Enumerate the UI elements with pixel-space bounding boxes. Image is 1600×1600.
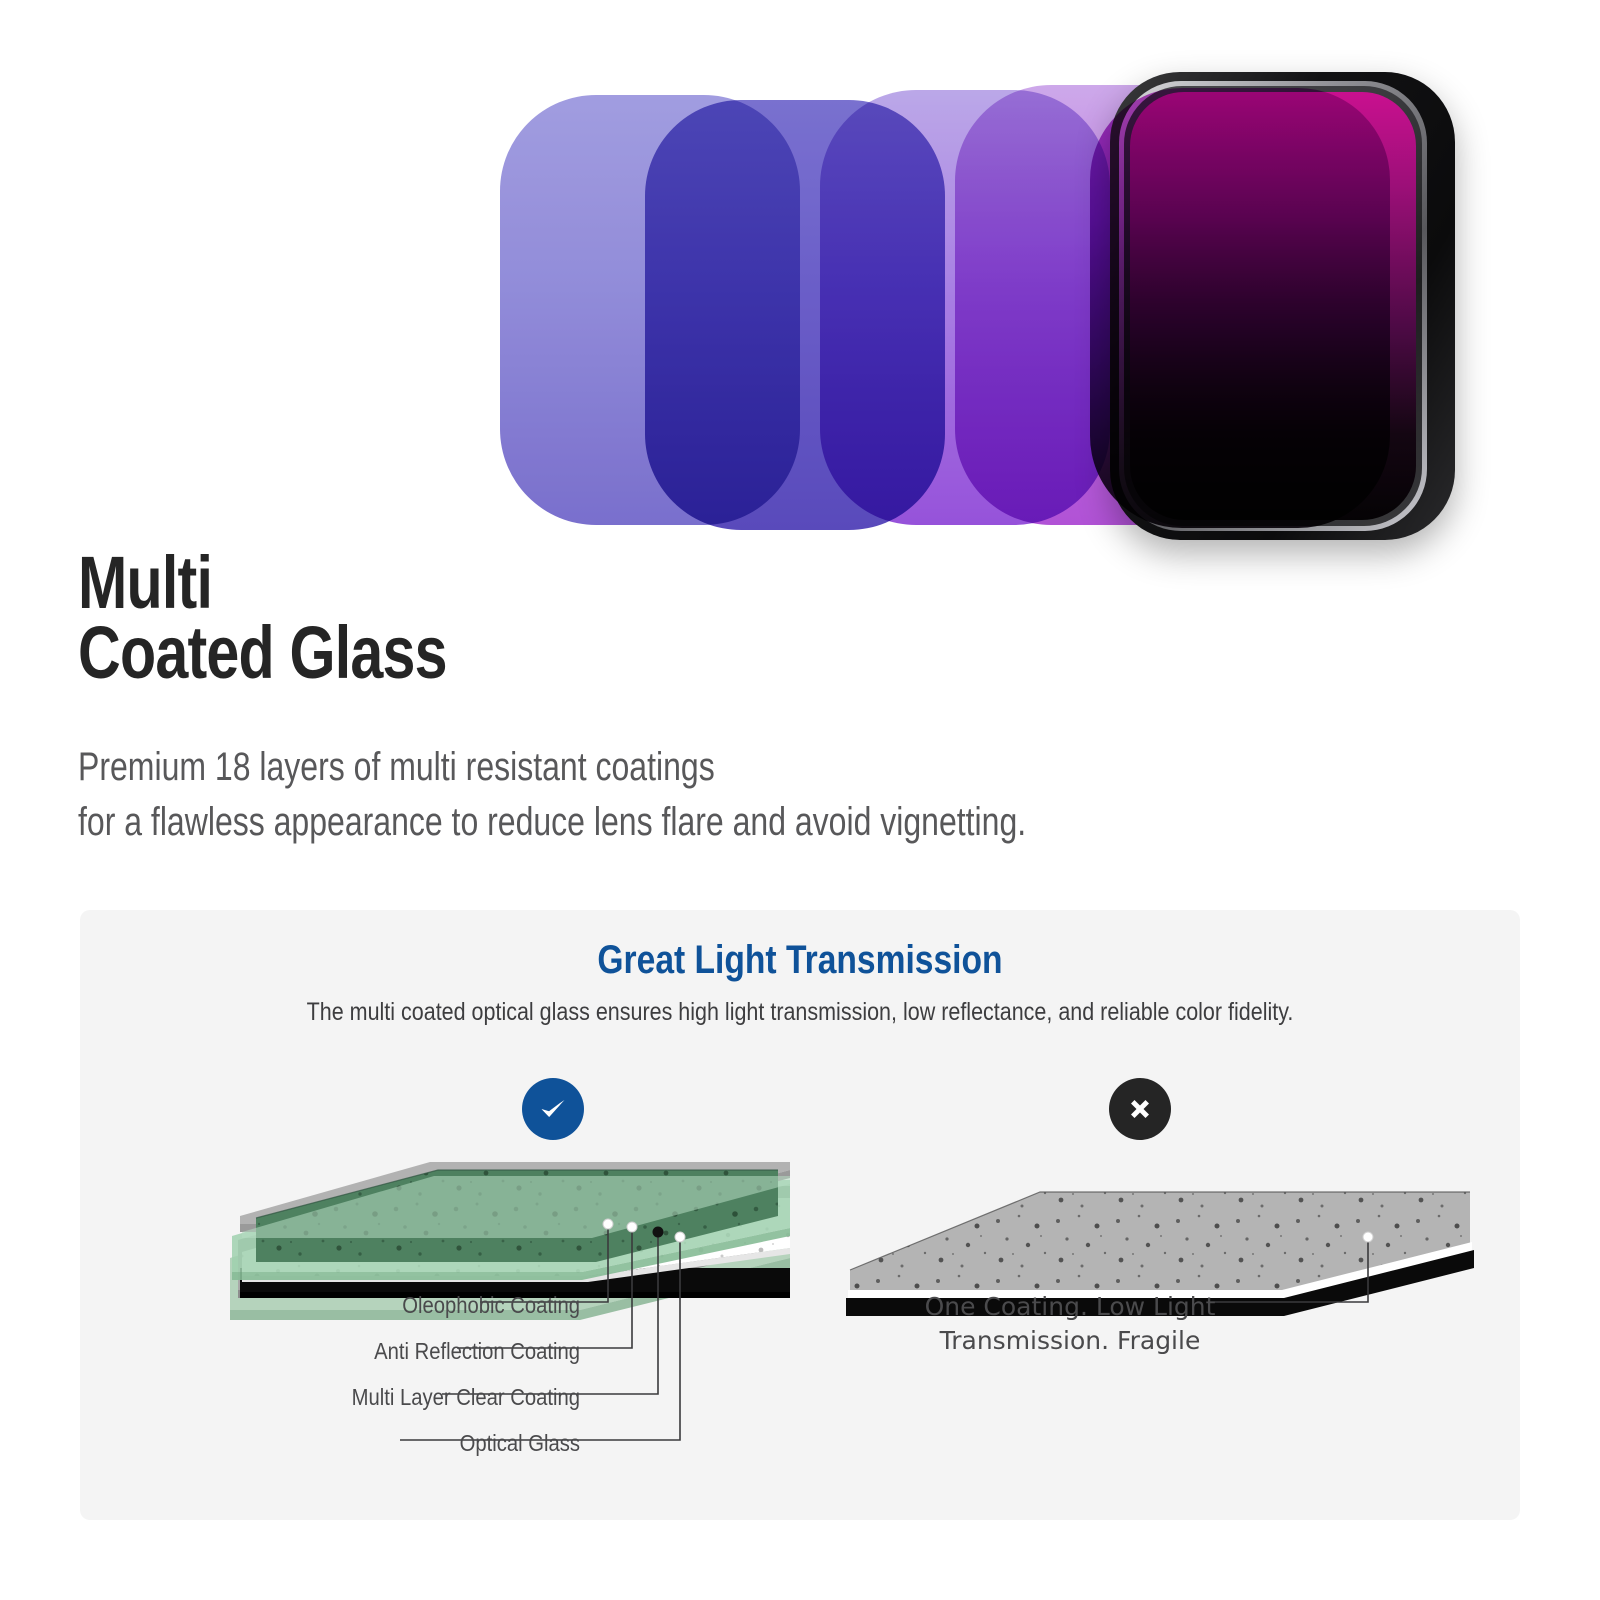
page-subtitle-line2: for a flawless appearance to reduce lens… (78, 795, 1278, 850)
infographic-page: Multi Coated Glass Premium 18 layers of … (0, 0, 1600, 1600)
label-one-coating-line2: Transmission. Fragile (860, 1324, 1280, 1358)
label-oleophobic-coating: Oleophobic Coating (140, 1292, 580, 1319)
panel-title: Great Light Transmission (195, 938, 1405, 983)
label-optical-glass: Optical Glass (140, 1430, 580, 1457)
label-one-coating-line1: One Coating. Low Light (860, 1290, 1280, 1324)
panel-subtitle: The multi coated optical glass ensures h… (181, 998, 1419, 1027)
cross-icon (1126, 1095, 1154, 1123)
page-subtitle: Premium 18 layers of multi resistant coa… (78, 740, 1278, 850)
hero-filter-stack (0, 0, 1600, 560)
glass-layer-5 (1090, 88, 1390, 528)
light-transmission-panel: Great Light Transmission The multi coate… (80, 910, 1520, 1520)
cross-badge (1109, 1078, 1171, 1140)
check-icon (536, 1092, 570, 1126)
check-badge (522, 1078, 584, 1140)
page-title: Multi Coated Glass (78, 548, 878, 687)
label-multi-layer-clear-coating: Multi Layer Clear Coating (140, 1384, 580, 1411)
page-subtitle-line1: Premium 18 layers of multi resistant coa… (78, 740, 1278, 795)
page-title-line2: Coated Glass (78, 618, 878, 688)
label-anti-reflection-coating: Anti Reflection Coating (140, 1338, 580, 1365)
label-one-coating: One Coating. Low Light Transmission. Fra… (860, 1290, 1280, 1358)
